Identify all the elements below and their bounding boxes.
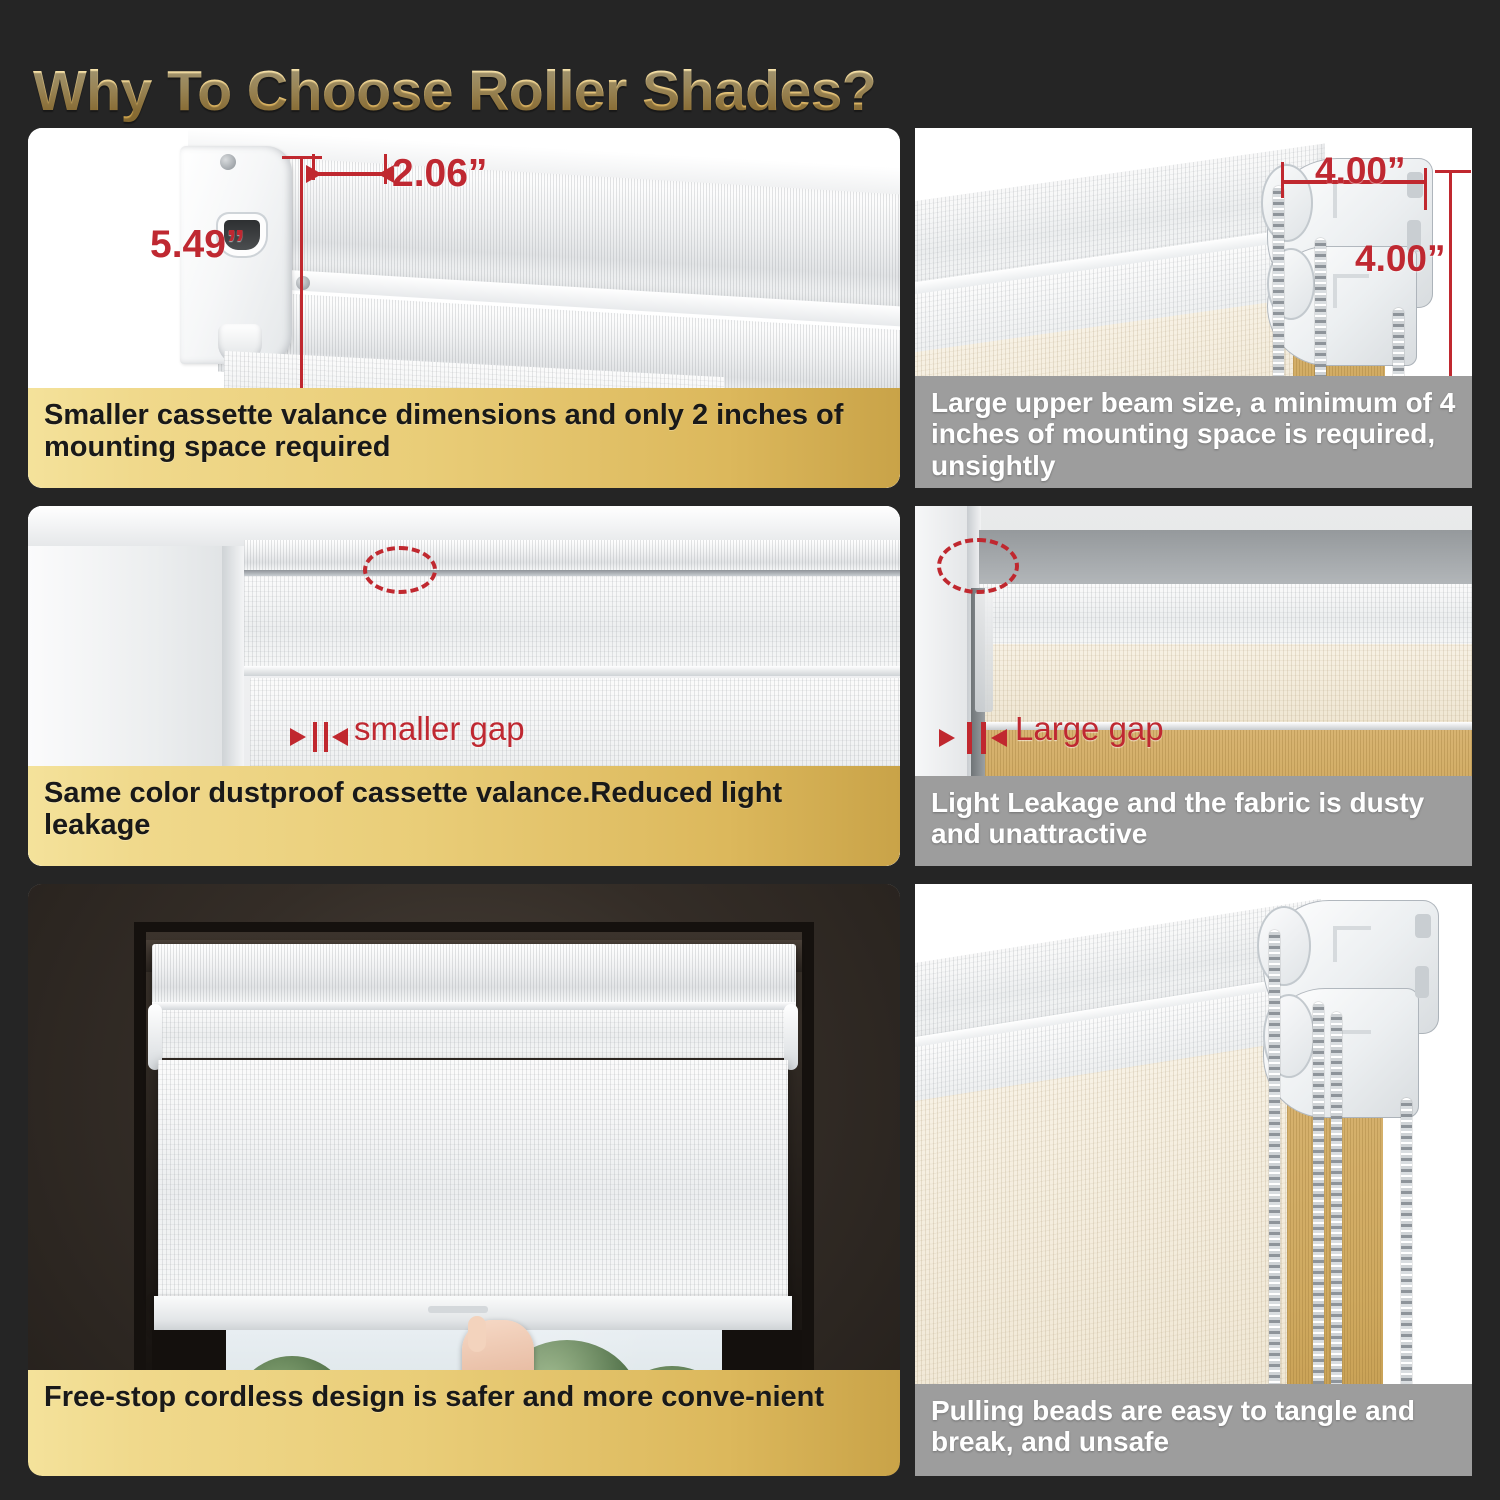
panel-1-caption: Smaller cassette valance dimensions and … [28,388,900,488]
smaller-gap-label: smaller gap [354,710,525,748]
panel-5-caption: Free-stop cordless design is safer and m… [28,1370,900,1476]
panel-light-leakage: Large gap Light Leakage and the fabric i… [915,506,1472,866]
panel-cordless-design: Free-stop cordless design is safer and m… [28,884,900,1476]
large-gap-label: Large gap [1015,710,1164,748]
comparison-grid: 2.06” 5.49” Smaller cassette valance dim… [0,118,1500,1488]
page-title: Why To Choose Roller Shades? [33,58,876,124]
gap-highlight-ellipse [937,538,1019,594]
gap-highlight-ellipse [363,546,437,594]
infographic-page: Why To Choose Roller Shades? [0,0,1500,1500]
panel-4-caption: Light Leakage and the fabric is dusty an… [915,776,1472,866]
panel-6-caption: Pulling beads are easy to tangle and bre… [915,1384,1472,1476]
panel-dustproof-valance: smaller gap Same color dustproof cassett… [28,506,900,866]
dim-400-h-label: 4.00” [1315,150,1406,192]
panel-2-caption: Large upper beam size, a minimum of 4 in… [915,376,1472,488]
panel-smaller-cassette: 2.06” 5.49” Smaller cassette valance dim… [28,128,900,488]
dim-400-v-label: 4.00” [1355,238,1446,280]
panel-3-caption: Same color dustproof cassette valance.Re… [28,766,900,866]
panel-pulling-beads: Pulling beads are easy to tangle and bre… [915,884,1472,1476]
dim-549-label: 5.49” [150,223,245,267]
dim-206-label: 2.06” [392,152,487,196]
panel-large-upper-beam: 4.00” 4.00” Large upper beam size, a min… [915,128,1472,488]
